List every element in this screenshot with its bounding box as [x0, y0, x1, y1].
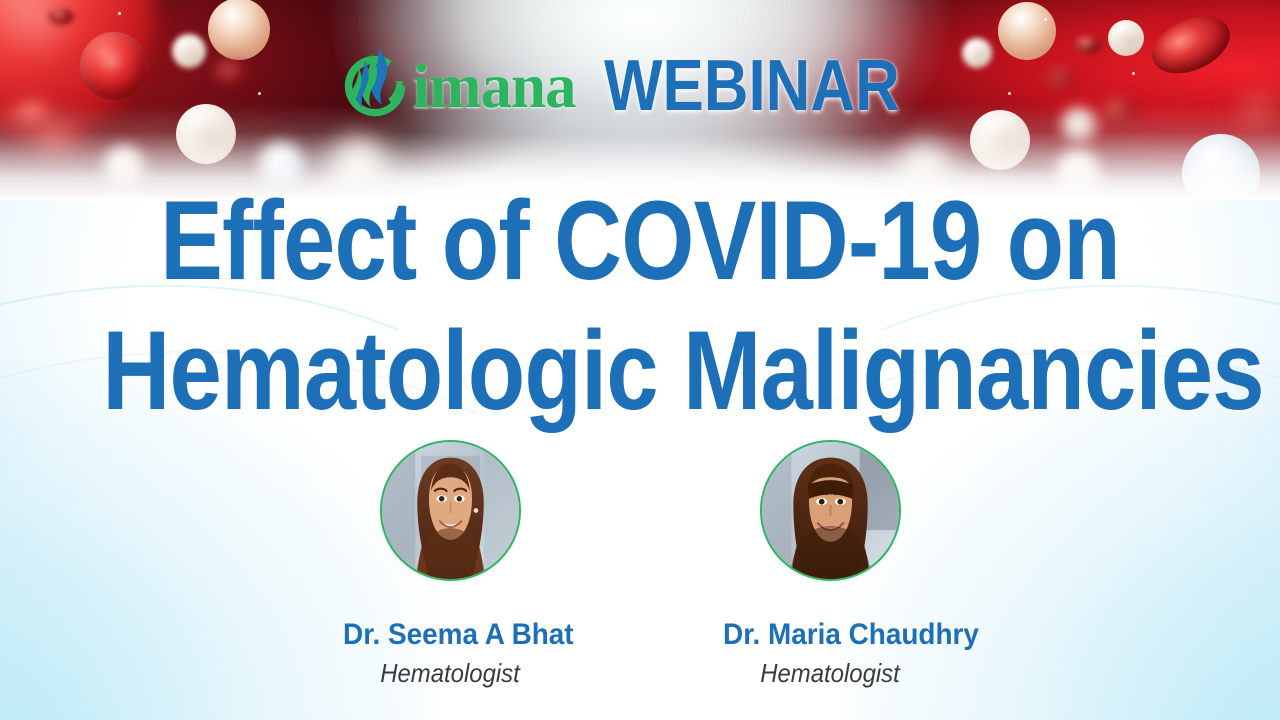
avatar[interactable] — [380, 440, 521, 581]
speaker-portrait-seema-a-bhat-icon — [382, 442, 519, 579]
avatar[interactable] — [760, 440, 901, 581]
imana-wordmark: imana — [413, 55, 576, 118]
speaker-list: Dr. Seema A Bhat Hematologist — [0, 440, 1280, 689]
brand-header: imana WEBINAR — [0, 38, 1280, 134]
speaker-name: Dr. Maria Chaudhry — [723, 618, 937, 652]
webinar-label: WEBINAR — [604, 50, 900, 122]
speaker-role: Hematologist — [344, 658, 556, 689]
speaker-card: Dr. Seema A Bhat Hematologist — [335, 440, 565, 689]
speaker-card: Dr. Maria Chaudhry Hematologist — [715, 440, 945, 689]
webinar-title-card: imana WEBINAR Effect of COVID-19 on Hema… — [0, 0, 1280, 720]
imana-flame-circle-logo-icon — [333, 44, 417, 128]
page-title: Effect of COVID-19 on Hematologic Malign… — [0, 176, 1280, 436]
speaker-portrait-maria-chaudhry-icon — [762, 442, 899, 579]
page-title-line-1: Effect of COVID-19 on — [102, 176, 1177, 306]
speaker-role: Hematologist — [724, 658, 936, 689]
speaker-name: Dr. Seema A Bhat — [343, 618, 557, 652]
imana-logo[interactable]: imana — [333, 44, 576, 128]
page-title-line-2: Hematologic Malignancies — [102, 306, 1177, 436]
